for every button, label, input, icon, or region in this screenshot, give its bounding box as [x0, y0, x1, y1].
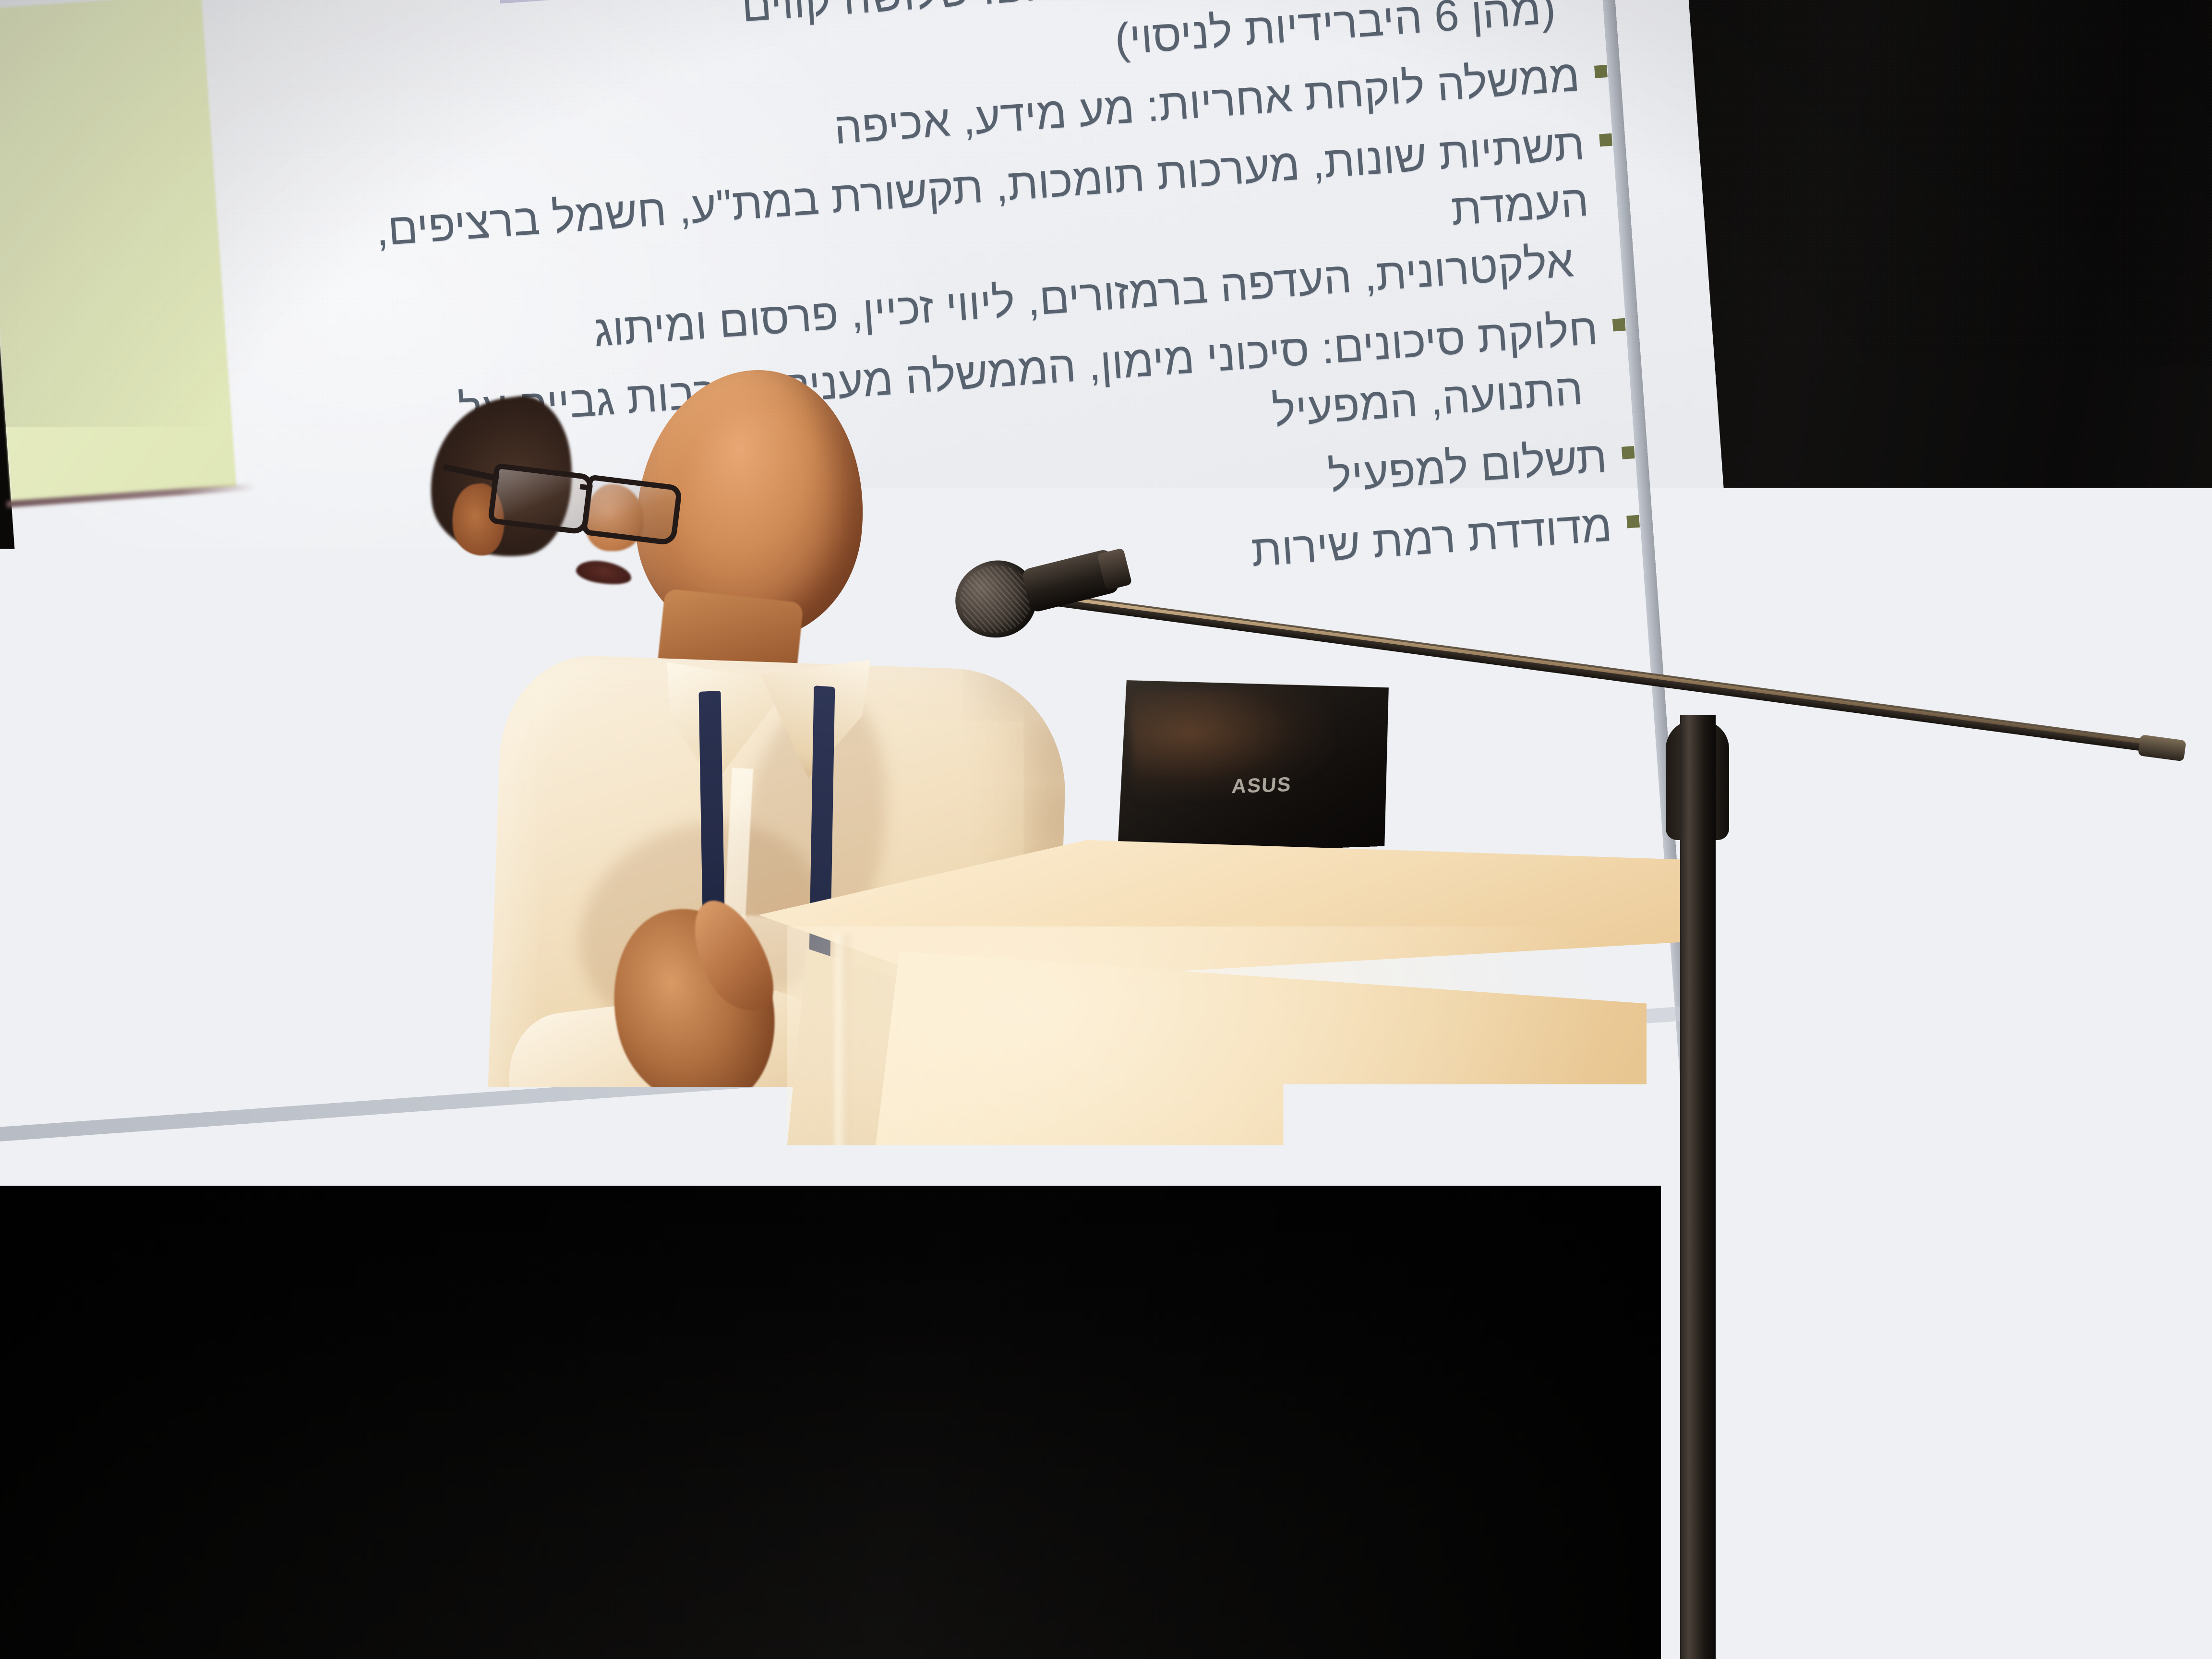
speaker-mouth [575, 557, 633, 588]
eyeglass-lens-right [581, 474, 683, 546]
slide-bullet-text: תשלום למפעיל [1326, 432, 1609, 501]
podium: סינמטק תל-אביב כנס יום תחבורה [739, 840, 1738, 1659]
screen-green-panel [0, 0, 236, 503]
poster-text: כנס יום תחבורה ציבורית 2012 [1256, 1477, 1520, 1659]
cinematheque-logo: סינמטק תל-אביב [1098, 1100, 1407, 1319]
mic-stand-post [1680, 715, 1716, 1659]
mic-stand-adjust-knob [1665, 931, 1727, 1042]
sponsor-logo-icon [1436, 1412, 1529, 1453]
slide-bullet-text: מדודדת רמת שירות [1250, 501, 1613, 576]
poster-line-1: כנס יום תחבורה [1264, 1477, 1520, 1594]
eyeglass-lens-left [488, 463, 594, 535]
ministry-logo-icon [1275, 1411, 1342, 1478]
conference-photo: פרויקט פרויקט ראשוני בארץ מסוג BRT: שלוש… [0, 0, 2212, 1659]
conference-poster: כנס יום תחבורה ציבורית 2012 [1237, 1381, 1547, 1659]
